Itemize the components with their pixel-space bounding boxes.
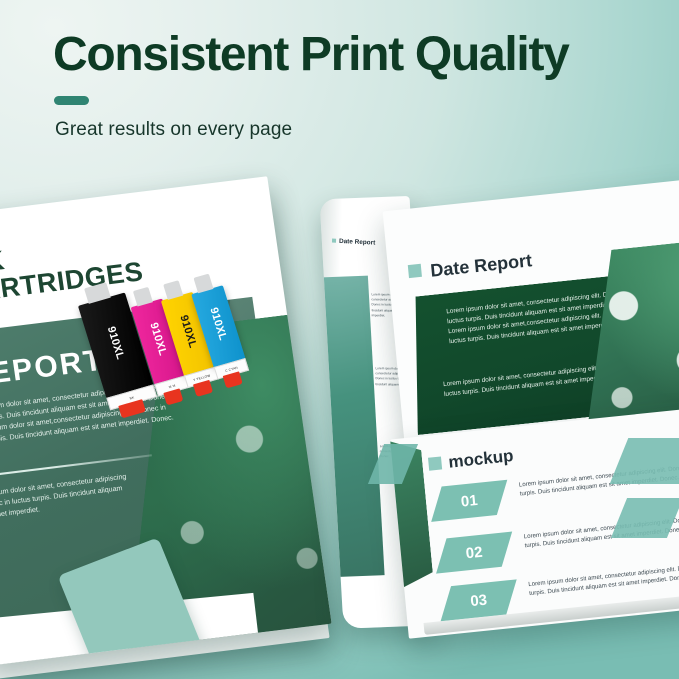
page-subtitle: Great results on every page: [55, 119, 292, 141]
bottom-spread-heading: mockup: [448, 446, 515, 473]
square-bullet-icon: [408, 264, 422, 278]
left-page-heading-text: Date Report: [339, 238, 375, 247]
page-title: Consistent Print Quality: [53, 31, 569, 79]
top-spread-heading: Date Report: [429, 250, 532, 282]
ink-cartridge-group: 910XL BK 910XL M M 910XL Y YELLOW: [68, 227, 269, 398]
cartridge-model-label: 910XL: [104, 325, 126, 361]
header-band: Consistent Print Quality Great results o…: [0, 0, 679, 175]
cartridge-model-label: 910XL: [207, 307, 229, 343]
cartridge-cap-icon: [133, 287, 153, 307]
left-page-photo: [320, 276, 385, 577]
cartridge-model-label: 910XL: [147, 322, 169, 358]
mockup-number-label: 02: [440, 532, 509, 573]
cartridge-cap-icon: [163, 280, 183, 300]
square-bullet-icon: [332, 239, 336, 243]
cartridge-cap-icon: [194, 274, 214, 294]
right-brochure: Date Report Lorem ipsum dolor sit amet, …: [297, 158, 679, 664]
square-bullet-icon: [428, 456, 442, 470]
product-marketing-image: Consistent Print Quality Great results o…: [0, 0, 679, 679]
cartridge-cap-icon: [84, 282, 111, 304]
left-brochure-cover: INK CARTRIDGES REPORT Lorem ipsum dolor …: [0, 176, 332, 666]
cartridge-model-label: 910XL: [177, 314, 199, 350]
mockup-number-label: 01: [435, 480, 504, 521]
accent-dash: [54, 96, 89, 105]
left-brochure: INK CARTRIDGES REPORT Lorem ipsum dolor …: [0, 176, 332, 679]
right-brochure-top-spread: Date Report Lorem ipsum dolor sit amet, …: [383, 178, 679, 440]
